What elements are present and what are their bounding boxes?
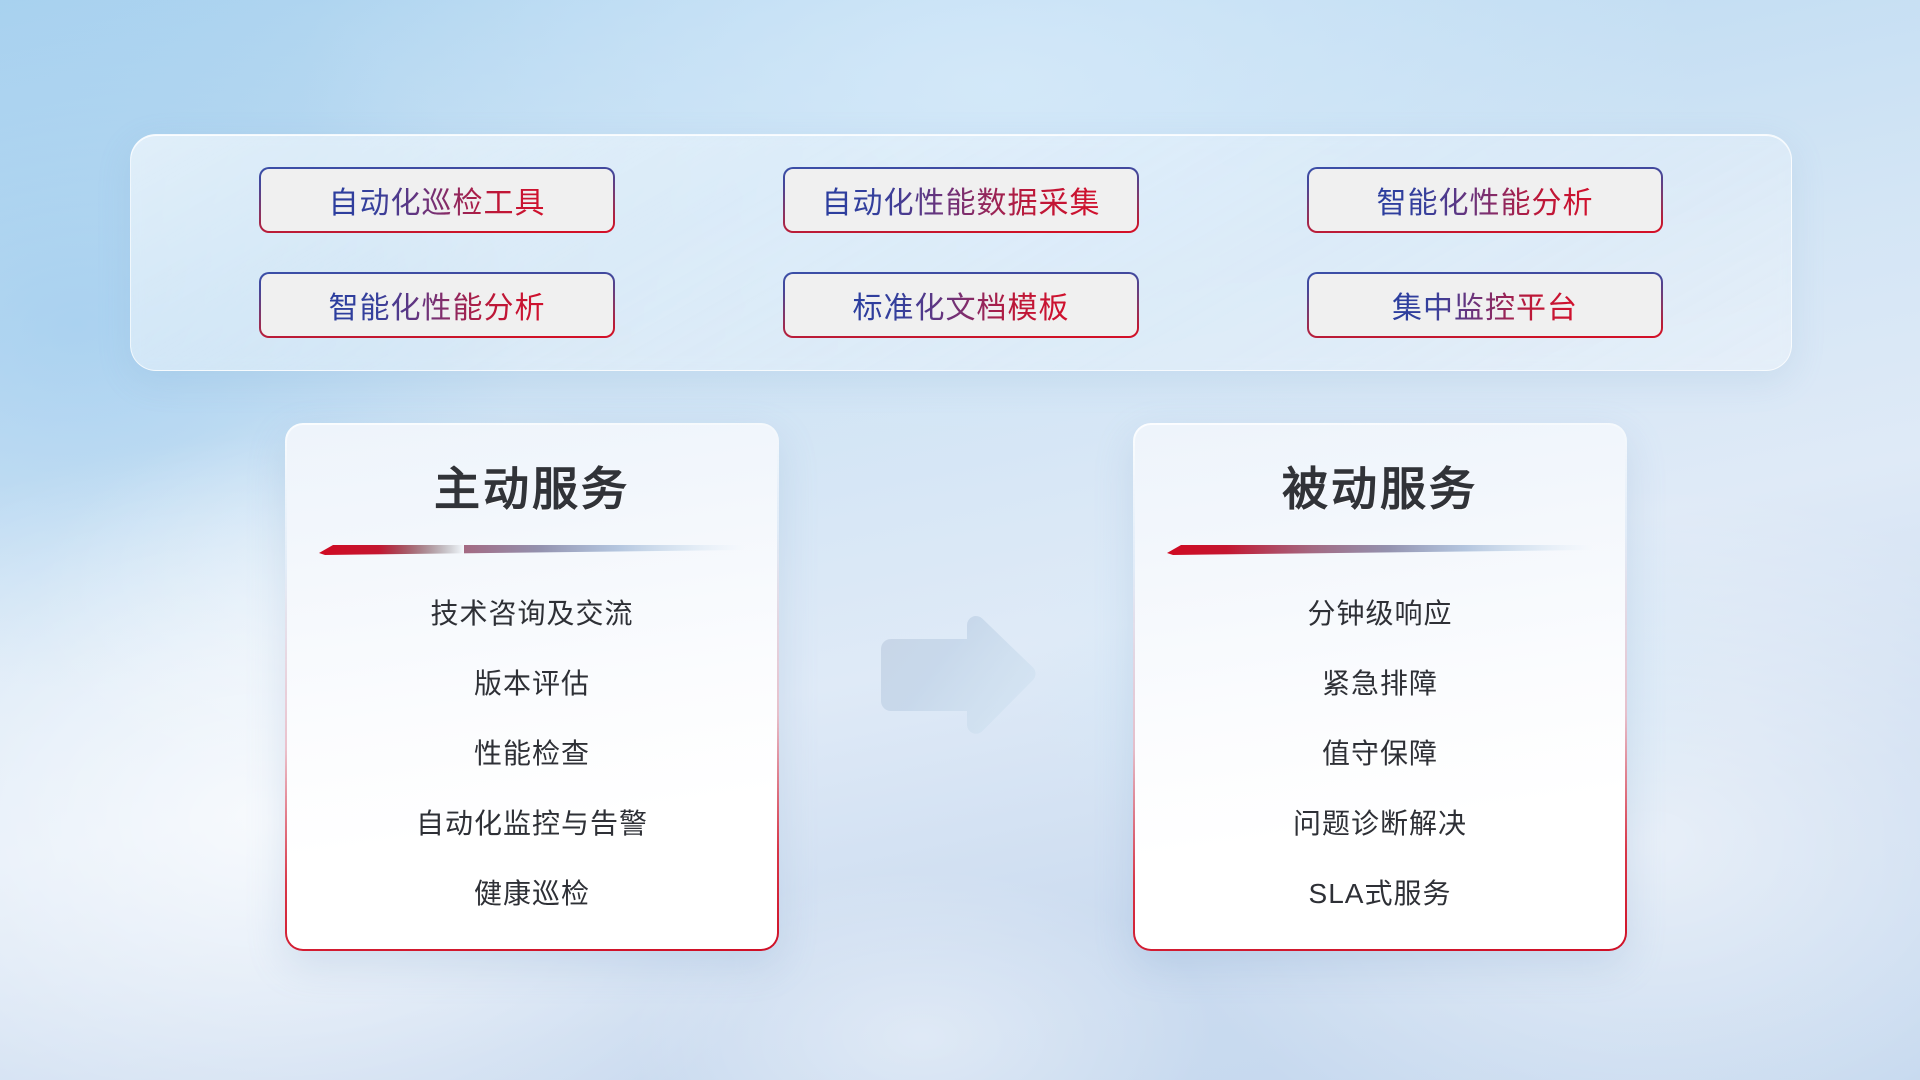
- capability-pill[interactable]: 集中监控平台: [1307, 272, 1663, 338]
- service-list-item: 紧急排障: [1322, 649, 1438, 719]
- service-card-title: 被动服务: [1282, 453, 1478, 519]
- capability-pill-face: 自动化巡检工具: [261, 169, 613, 231]
- capability-pill-face: 标准化文档模板: [785, 274, 1137, 336]
- gradient-divider: [1167, 541, 1593, 557]
- service-card-active[interactable]: 主动服务 技术咨询及: [285, 423, 779, 951]
- service-item-list: 分钟级响应 紧急排障 值守保障 问题诊断解决 SLA式服务: [1135, 579, 1625, 929]
- capability-pill-label: 智能化性能分析: [1377, 178, 1594, 222]
- capability-pill[interactable]: 自动化巡检工具: [259, 167, 615, 233]
- service-item-list: 技术咨询及交流 版本评估 性能检查 自动化监控与告警 健康巡检: [287, 579, 777, 929]
- service-list-item: 性能检查: [474, 719, 590, 789]
- capability-pill[interactable]: 自动化性能数据采集: [783, 167, 1139, 233]
- capability-pill-label: 智能化性能分析: [329, 283, 546, 327]
- capability-pill-face: 集中监控平台: [1309, 274, 1661, 336]
- capability-pill-label: 自动化巡检工具: [329, 178, 546, 222]
- arrow-right-icon: [873, 615, 1041, 735]
- service-list-item: 分钟级响应: [1307, 579, 1452, 649]
- service-list-item: 值守保障: [1322, 719, 1438, 789]
- capability-pill-label: 集中监控平台: [1392, 283, 1578, 327]
- capability-pill-label: 标准化文档模板: [853, 283, 1070, 327]
- service-card-body: 主动服务 技术咨询及: [287, 425, 777, 949]
- service-list-item: 健康巡检: [474, 859, 590, 929]
- capability-panel: 自动化巡检工具 自动化性能数据采集 智能化性能分析 智能化性能分析 标准化文档模…: [130, 134, 1792, 371]
- gradient-divider: [319, 541, 745, 557]
- capability-pill-grid: 自动化巡检工具 自动化性能数据采集 智能化性能分析 智能化性能分析 标准化文档模…: [131, 135, 1791, 370]
- capability-pill[interactable]: 智能化性能分析: [1307, 167, 1663, 233]
- service-card-body: 被动服务 分钟级响应 紧急排障: [1135, 425, 1625, 949]
- service-list-item: 问题诊断解决: [1293, 789, 1467, 859]
- service-card-passive[interactable]: 被动服务 分钟级响应 紧急排障: [1133, 423, 1627, 951]
- service-list-item: 自动化监控与告警: [416, 789, 648, 859]
- service-list-item: SLA式服务: [1309, 859, 1452, 929]
- capability-pill-face: 自动化性能数据采集: [785, 169, 1137, 231]
- capability-pill-face: 智能化性能分析: [261, 274, 613, 336]
- service-card-title: 主动服务: [434, 453, 630, 519]
- capability-pill[interactable]: 智能化性能分析: [259, 272, 615, 338]
- service-list-item: 版本评估: [474, 649, 590, 719]
- service-list-item: 技术咨询及交流: [430, 579, 633, 649]
- capability-pill[interactable]: 标准化文档模板: [783, 272, 1139, 338]
- capability-pill-face: 智能化性能分析: [1309, 169, 1661, 231]
- capability-pill-label: 自动化性能数据采集: [822, 178, 1101, 222]
